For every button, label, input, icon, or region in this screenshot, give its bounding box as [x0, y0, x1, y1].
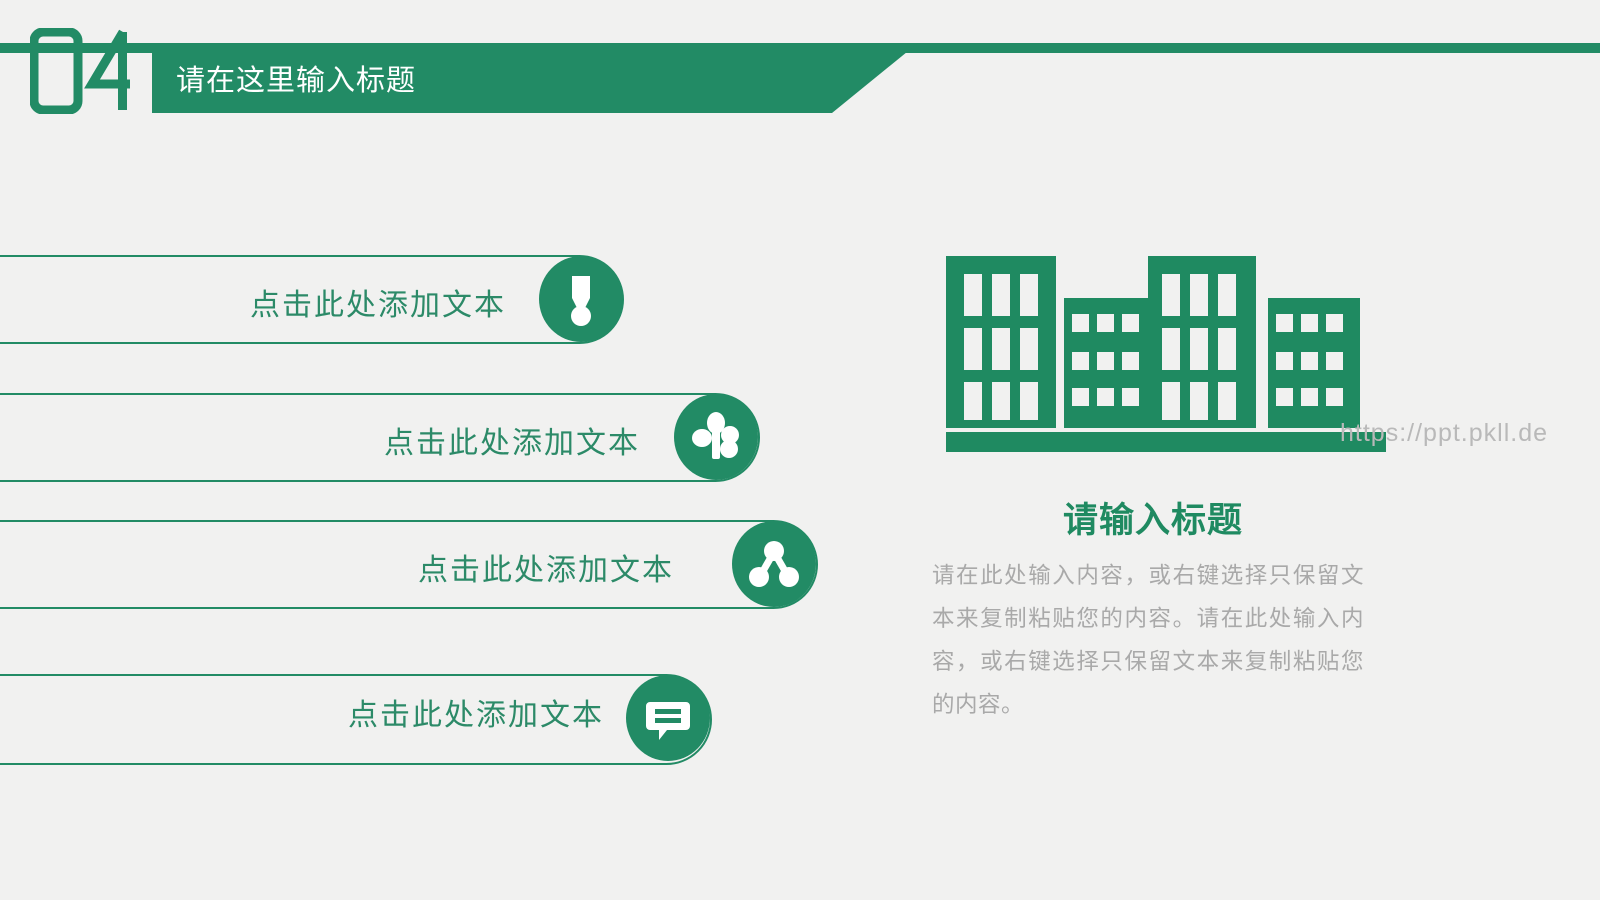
- right-panel-body: 请在此处输入内容，或右键选择只保留文本来复制粘贴您的内容。请在此处输入内容，或右…: [932, 554, 1364, 726]
- list-item-label-4: 点击此处添加文本: [348, 690, 604, 734]
- city-buildings-icon: [946, 252, 1396, 452]
- clover-icon[interactable]: [674, 394, 758, 480]
- list-item-label-1: 点击此处添加文本: [250, 280, 506, 324]
- list-item-label-3: 点击此处添加文本: [418, 545, 674, 589]
- slide-canvas: 04 请在这里输入标题 点击此处添加文本 点击此处添加文本 点击此处添加文本: [0, 0, 1600, 900]
- page-title: 请在这里输入标题: [176, 43, 416, 113]
- chat-bubble-icon[interactable]: [626, 675, 710, 761]
- network-share-icon[interactable]: [732, 521, 816, 607]
- step-number-badge: [30, 30, 138, 112]
- exclamation-icon[interactable]: [539, 256, 623, 342]
- list-item-label-2: 点击此处添加文本: [384, 418, 640, 462]
- right-panel-heading: 请输入标题: [1063, 492, 1243, 543]
- list-item-pill-2[interactable]: [0, 393, 760, 482]
- list-item-pill-3[interactable]: [0, 520, 818, 609]
